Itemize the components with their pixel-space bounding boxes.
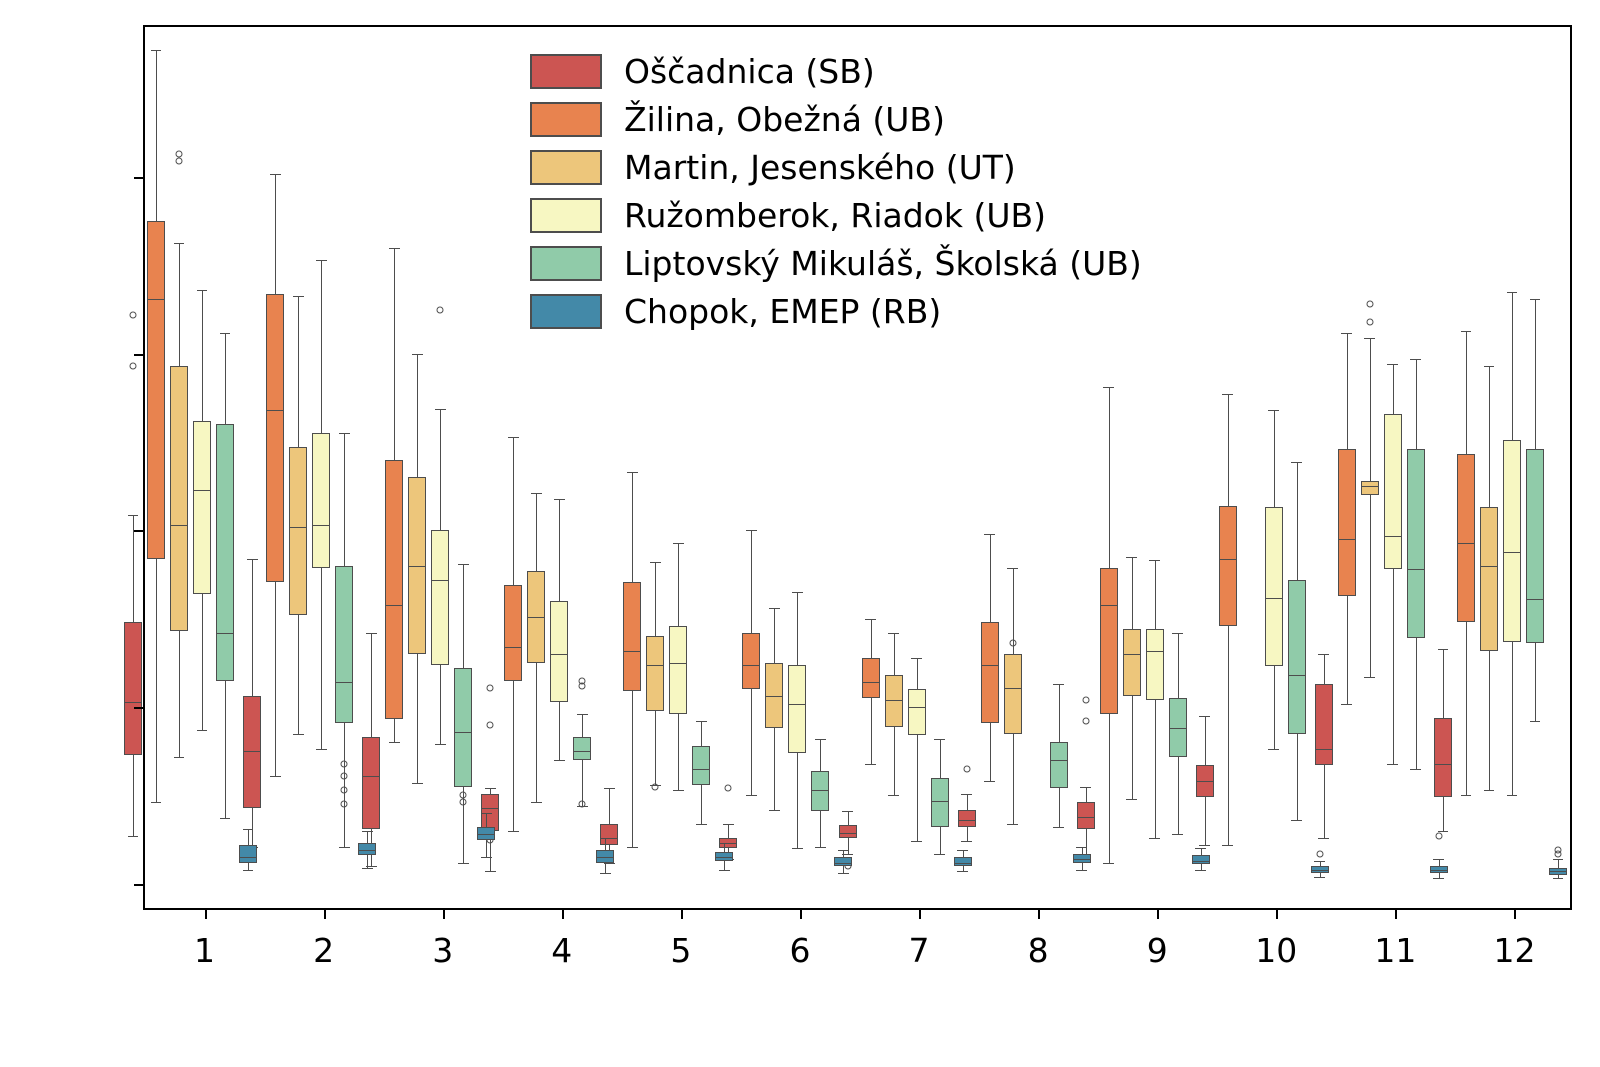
y-axis-tick-mark xyxy=(134,884,145,886)
legend: Oščadnica (SB)Žilina, Obežná (UB)Martin,… xyxy=(530,54,1142,329)
x-axis-tick-label: 3 xyxy=(432,931,453,970)
legend-label: Ružomberok, Riadok (UB) xyxy=(624,199,1046,232)
x-axis-tick-mark xyxy=(681,908,683,919)
legend-item: Ružomberok, Riadok (UB) xyxy=(530,198,1142,233)
y-axis-tick-mark xyxy=(134,707,145,709)
median-line xyxy=(1549,871,1567,872)
x-axis-tick-label: 5 xyxy=(670,931,691,970)
legend-item: Liptovský Mikuláš, Školská (UB) xyxy=(530,246,1142,281)
legend-label: Žilina, Obežná (UB) xyxy=(624,103,945,136)
x-axis-tick-label: 10 xyxy=(1255,931,1297,970)
x-axis-tick-mark xyxy=(1157,908,1159,919)
x-axis-tick-mark xyxy=(205,908,207,919)
x-axis-tick-label: 2 xyxy=(313,931,334,970)
legend-item: Žilina, Obežná (UB) xyxy=(530,102,1142,137)
legend-item: Chopok, EMEP (RB) xyxy=(530,294,1142,329)
x-axis-tick-label: 4 xyxy=(551,931,572,970)
chart-figure: NO2 (μg.m−3) Oščadnica (SB)Žilina, Obežn… xyxy=(0,0,1600,1067)
plot-area: Oščadnica (SB)Žilina, Obežná (UB)Martin,… xyxy=(143,25,1572,910)
box-iqr xyxy=(124,622,142,754)
whisker-upper xyxy=(1558,859,1559,868)
median-line xyxy=(124,702,142,703)
x-axis-tick-mark xyxy=(800,908,802,919)
x-axis-tick-label: 9 xyxy=(1147,931,1168,970)
legend-label: Oščadnica (SB) xyxy=(624,55,875,88)
x-axis-tick-mark xyxy=(562,908,564,919)
whisker-cap-lower xyxy=(1553,878,1564,879)
x-axis-tick-label: 1 xyxy=(194,931,215,970)
legend-swatch xyxy=(530,198,602,233)
legend-swatch xyxy=(530,294,602,329)
x-axis-tick-mark xyxy=(1038,908,1040,919)
y-axis-tick-mark xyxy=(134,530,145,532)
x-axis-tick-label: 6 xyxy=(789,931,810,970)
legend-item: Oščadnica (SB) xyxy=(530,54,1142,89)
x-axis-tick-mark xyxy=(1395,908,1397,919)
legend-label: Chopok, EMEP (RB) xyxy=(624,295,941,328)
legend-swatch xyxy=(530,150,602,185)
x-axis-tick-mark xyxy=(1276,908,1278,919)
outlier-point xyxy=(130,311,137,318)
whisker-lower xyxy=(133,755,134,836)
y-axis-tick-mark xyxy=(134,354,145,356)
x-axis-tick-label: 8 xyxy=(1028,931,1049,970)
legend-swatch xyxy=(530,54,602,89)
x-axis-tick-mark xyxy=(919,908,921,919)
legend-item: Martin, Jesenského (UT) xyxy=(530,150,1142,185)
legend-swatch xyxy=(530,102,602,137)
whisker-cap-upper xyxy=(1553,859,1564,860)
x-axis-tick-mark xyxy=(324,908,326,919)
x-axis-tick-label: 7 xyxy=(909,931,930,970)
x-axis-tick-mark xyxy=(1514,908,1516,919)
y-axis-tick-mark xyxy=(134,177,145,179)
whisker-cap-lower xyxy=(128,836,139,837)
legend-label: Martin, Jesenského (UT) xyxy=(624,151,1016,184)
outlier-point xyxy=(130,363,137,370)
x-axis-tick-label: 12 xyxy=(1493,931,1535,970)
x-axis-tick-mark xyxy=(443,908,445,919)
whisker-cap-upper xyxy=(128,515,139,516)
legend-label: Liptovský Mikuláš, Školská (UB) xyxy=(624,247,1142,280)
outlier-point xyxy=(1554,850,1561,857)
legend-swatch xyxy=(530,246,602,281)
x-axis-tick-label: 11 xyxy=(1374,931,1416,970)
